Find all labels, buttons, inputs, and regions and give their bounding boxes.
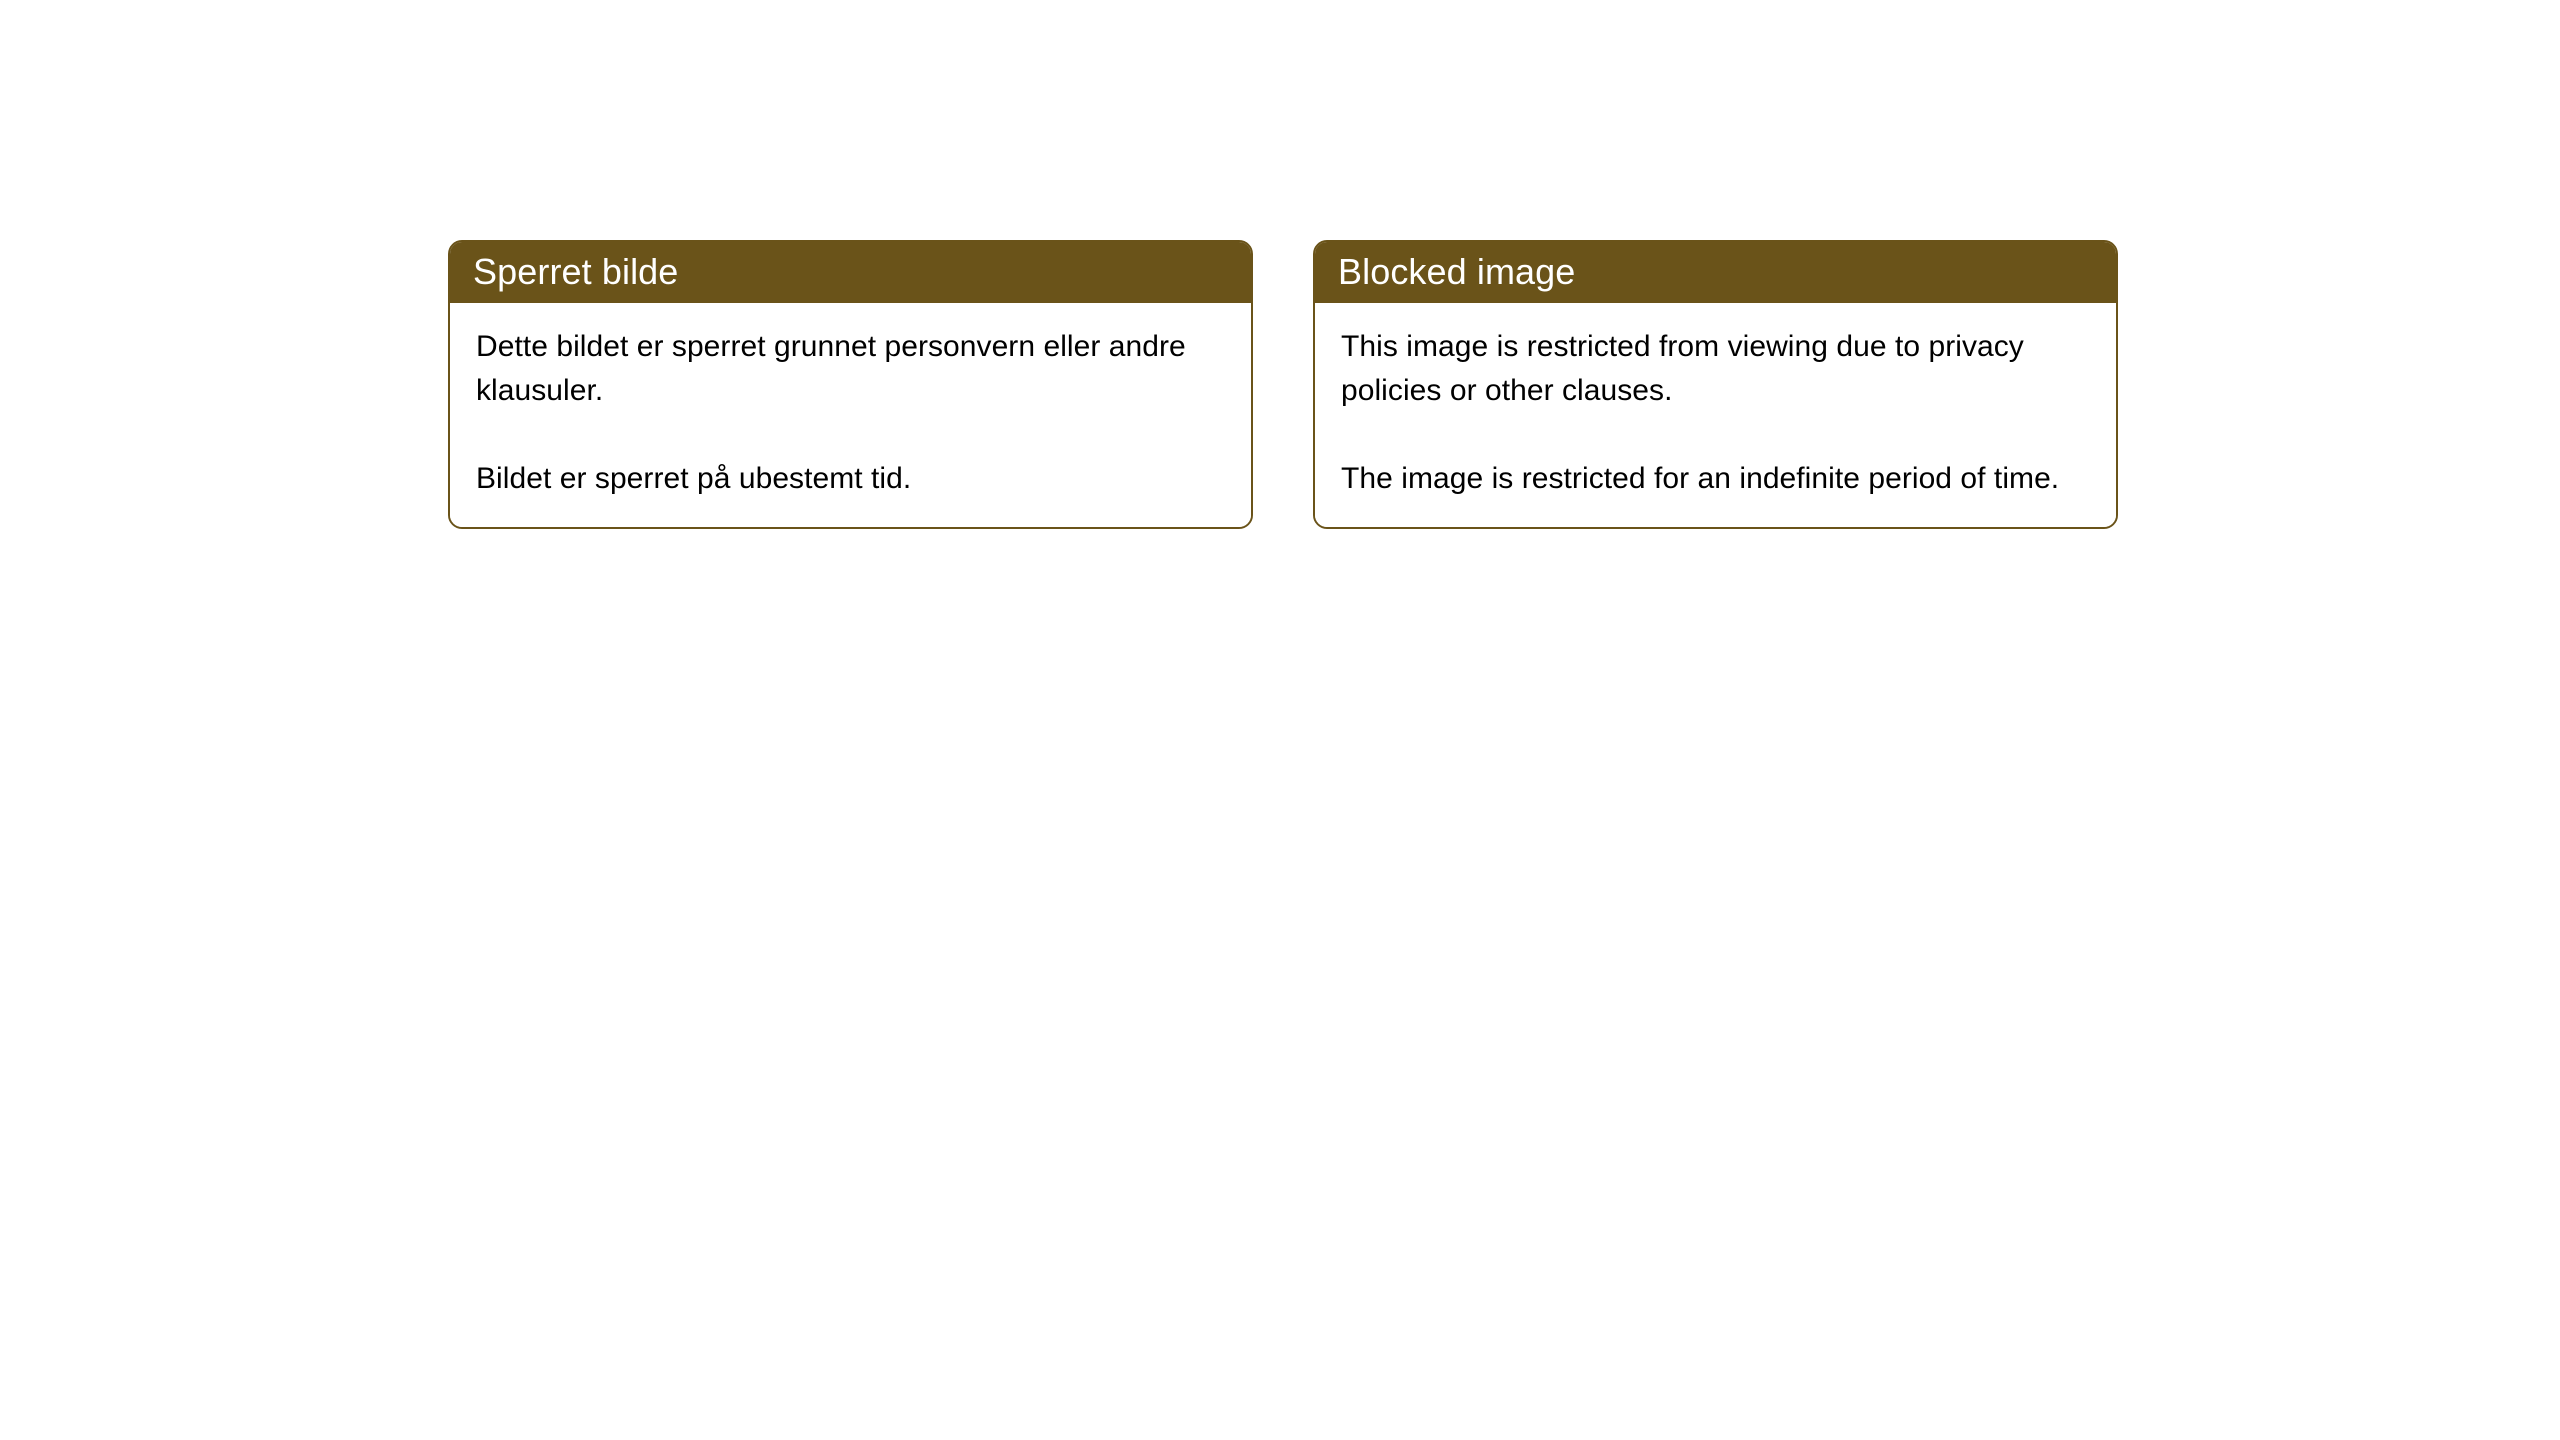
card-header-norwegian: Sperret bilde xyxy=(449,241,1252,303)
card-header-english: Blocked image xyxy=(1314,241,2117,303)
card-paragraph-secondary-english: The image is restricted for an indefinit… xyxy=(1341,457,2092,501)
card-body-norwegian: Dette bildet er sperret grunnet personve… xyxy=(450,303,1251,527)
card-body-english: This image is restricted from viewing du… xyxy=(1315,303,2116,527)
blocked-image-card-english: Blocked image This image is restricted f… xyxy=(1313,240,2118,529)
card-title-english: Blocked image xyxy=(1338,252,1575,292)
blocked-image-card-norwegian: Sperret bilde Dette bildet er sperret gr… xyxy=(448,240,1253,529)
paragraph-spacer xyxy=(1341,413,2092,457)
blocked-image-notice-area: Sperret bilde Dette bildet er sperret gr… xyxy=(448,240,2118,529)
card-paragraph-primary-norwegian: Dette bildet er sperret grunnet personve… xyxy=(476,325,1227,413)
card-title-norwegian: Sperret bilde xyxy=(473,252,678,292)
card-paragraph-primary-english: This image is restricted from viewing du… xyxy=(1341,325,2092,413)
paragraph-spacer xyxy=(476,413,1227,457)
card-paragraph-secondary-norwegian: Bildet er sperret på ubestemt tid. xyxy=(476,457,1227,501)
